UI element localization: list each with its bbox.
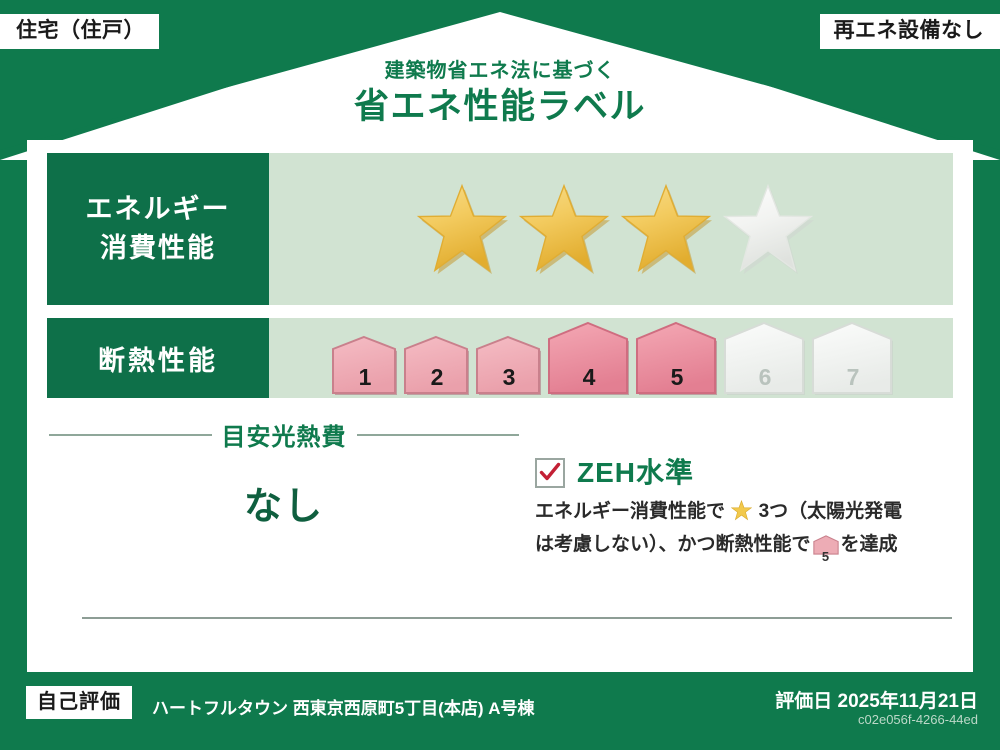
check-icon — [539, 462, 561, 484]
insulation-label-text: 断熱性能 — [98, 339, 218, 378]
star-empty — [722, 183, 814, 275]
insulation-level-number: 1 — [332, 366, 398, 389]
badge-building-type: 住宅（住戸） — [0, 14, 159, 49]
zeh-desc-part4: を達成 — [841, 534, 898, 555]
house-icon-inline-number: 5 — [813, 550, 839, 563]
label-card: エネルギー 消費性能 断熱性能 1234567 目安光熱費 なし — [27, 140, 973, 672]
energy-label-root: 住宅（住戸） 再エネ設備なし 建築物省エネ法に基づく 省エネ性能ラベル エネルギ… — [0, 0, 1000, 750]
utility-cost-heading: 目安光熱費 — [49, 417, 519, 452]
title-subtitle: 建築物省エネ法に基づく — [0, 60, 1000, 82]
insulation-level-active: 2 — [404, 335, 470, 395]
insulation-level-scale: 1234567 — [332, 321, 894, 395]
energy-performance-row: エネルギー 消費性能 — [47, 153, 953, 305]
heading-rule-left — [49, 434, 212, 436]
card-divider — [82, 617, 952, 619]
building-name: ハートフルタウン 西東京西原町5丁目(本店) A号棟 — [152, 694, 535, 719]
zeh-desc-part1: エネルギー消費性能で — [535, 501, 725, 522]
insulation-level-active: 3 — [476, 335, 542, 395]
insulation-level-number: 5 — [636, 366, 718, 389]
footer: 自己評価 ハートフルタウン 西東京西原町5丁目(本店) A号棟 評価日 2025… — [0, 672, 1000, 750]
self-evaluation-badge: 自己評価 — [26, 686, 132, 719]
evaluation-date: 評価日 2025年11月21日 — [775, 686, 978, 713]
insulation-level-inactive: 7 — [812, 321, 894, 395]
utility-cost-heading-text: 目安光熱費 — [222, 417, 347, 452]
insulation-level-number: 4 — [548, 366, 630, 389]
energy-performance-label: エネルギー 消費性能 — [47, 153, 269, 305]
utility-cost-value: なし — [49, 475, 519, 530]
insulation-level-inactive: 6 — [724, 321, 806, 395]
star-filled — [416, 183, 508, 275]
zeh-title-row: ZEH水準 — [535, 458, 953, 488]
insulation-level-active: 1 — [332, 335, 398, 395]
star-filled — [620, 183, 712, 275]
insulation-level-active: 4 — [548, 321, 630, 395]
insulation-level-number: 7 — [812, 366, 894, 389]
star-rating — [416, 183, 814, 275]
zeh-desc-part2: 3つ（太陽光発電 — [759, 501, 903, 522]
title-main: 省エネ性能ラベル — [0, 86, 1000, 128]
house-icon-inline: 5 — [813, 535, 839, 565]
insulation-level-number: 3 — [476, 366, 542, 389]
star-filled — [518, 183, 610, 275]
evaluation-id: c02e056f-4266-44ed — [858, 712, 978, 727]
insulation-level-number: 2 — [404, 366, 470, 389]
energy-label-line2: 消費性能 — [100, 229, 216, 268]
badge-renewable-energy: 再エネ設備なし — [820, 14, 1000, 49]
insulation-performance-label: 断熱性能 — [47, 318, 269, 398]
zeh-block: ZEH水準 エネルギー消費性能で 3つ（太陽光発電 は考慮しない）、かつ断熱性能… — [535, 458, 953, 564]
title-block: 建築物省エネ法に基づく 省エネ性能ラベル — [0, 60, 1000, 128]
zeh-checkbox[interactable] — [535, 458, 565, 488]
zeh-description: エネルギー消費性能で 3つ（太陽光発電 は考慮しない）、かつ断熱性能で 5 を達… — [535, 498, 953, 564]
zeh-desc-part3: は考慮しない）、かつ断熱性能で — [535, 534, 811, 555]
energy-performance-body — [269, 153, 953, 305]
heading-rule-right — [357, 434, 520, 436]
star-icon-inline — [726, 505, 758, 526]
insulation-performance-row: 断熱性能 1234567 — [47, 318, 953, 398]
insulation-performance-body: 1234567 — [269, 318, 953, 398]
zeh-title-text: ZEH水準 — [577, 459, 694, 487]
insulation-level-number: 6 — [724, 366, 806, 389]
energy-label-line1: エネルギー — [86, 190, 231, 229]
insulation-level-active: 5 — [636, 321, 718, 395]
